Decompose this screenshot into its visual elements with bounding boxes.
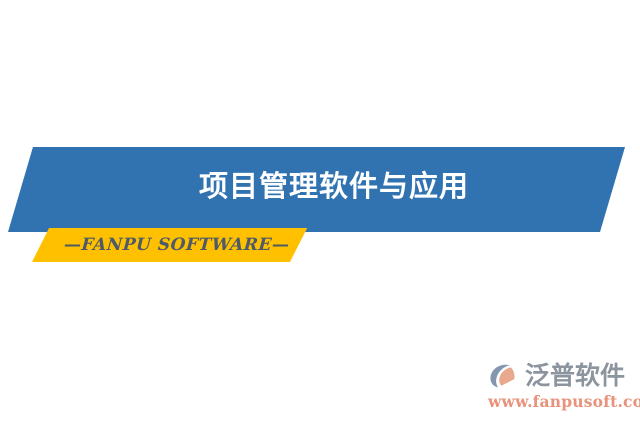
title-container: 项目管理软件与应用	[0, 159, 640, 213]
subtitle-container: —FANPU SOFTWARE—	[52, 232, 302, 258]
watermark: 泛普软件 www.fanpusoft.com	[488, 357, 634, 419]
fanpu-logo-icon	[488, 360, 522, 392]
watermark-brand-row: 泛普软件	[488, 357, 634, 393]
slide-subtitle: —FANPU SOFTWARE—	[64, 237, 291, 254]
watermark-url-text: www.fanpusoft.com	[488, 394, 634, 410]
watermark-brand-text: 泛普软件	[525, 363, 625, 388]
slide-canvas: 项目管理软件与应用 —FANPU SOFTWARE— 泛普软件 www.fanp…	[0, 0, 640, 427]
slide-title: 项目管理软件与应用	[199, 172, 469, 201]
